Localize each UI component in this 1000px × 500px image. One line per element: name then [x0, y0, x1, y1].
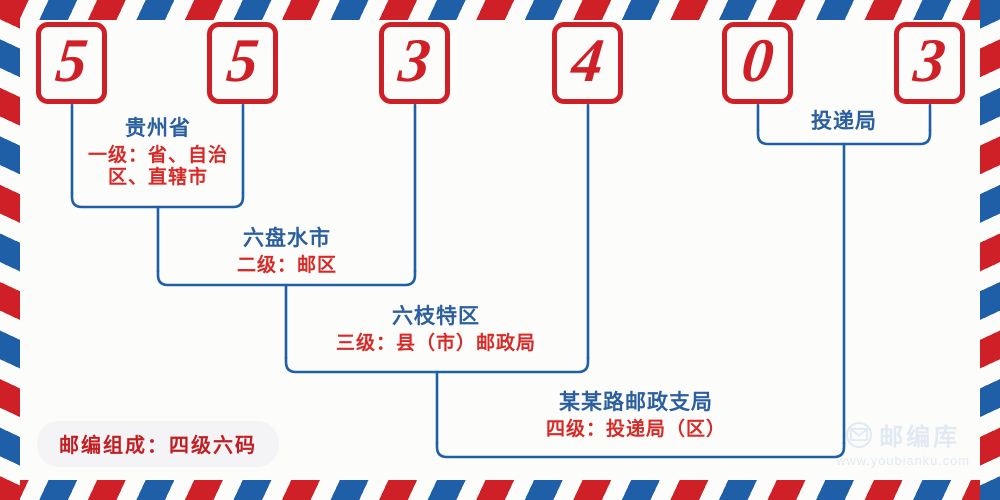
- level-2-title: 六盘水市: [176, 222, 398, 252]
- watermark-brand: 邮编库: [879, 417, 960, 452]
- level-3-subtitle: 三级：县（市）邮政局: [300, 333, 572, 355]
- digit-2-glyph: 5: [224, 30, 262, 92]
- airmail-border-top: [0, 0, 1000, 20]
- level-4-label: 某某路邮政支局 四级：投递局（区）: [500, 386, 772, 441]
- digit-box-5[interactable]: 0: [722, 22, 793, 104]
- bracket-level-3: [286, 358, 588, 372]
- digit-6-glyph: 3: [911, 30, 949, 92]
- watermark: 邮编库 www.youbianku.com: [836, 417, 970, 468]
- level-1-title: 贵州省: [78, 112, 238, 142]
- level-2-subtitle: 二级：邮区: [176, 255, 398, 277]
- delivery-group-title: 投递局: [758, 105, 930, 135]
- digit-box-2[interactable]: 5: [207, 22, 278, 104]
- digit-4-glyph: 4: [569, 30, 607, 92]
- bracket-level-1: [72, 193, 243, 207]
- postcode-composition-text: 邮编组成：四级六码: [59, 435, 257, 457]
- digit-box-3[interactable]: 3: [379, 22, 450, 104]
- delivery-group-label: 投递局: [758, 105, 930, 135]
- watermark-url: www.youbianku.com: [836, 453, 970, 468]
- airmail-border-right: [980, 0, 1000, 500]
- airmail-border-bottom: [0, 480, 1000, 500]
- level-2-label: 六盘水市 二级：邮区: [176, 222, 398, 277]
- digit-5-glyph: 0: [739, 30, 777, 92]
- postcode-composition-chip: 邮编组成：四级六码: [37, 421, 279, 467]
- diagram-canvas: 5 5 3 4 0 3 投递局 贵州省 一级：省、自治区、直辖市 六盘水市 二级…: [0, 0, 1000, 500]
- digit-box-1[interactable]: 5: [36, 22, 107, 104]
- level-4-title: 某某路邮政支局: [500, 386, 772, 416]
- level-3-title: 六枝特区: [300, 300, 572, 330]
- digit-box-4[interactable]: 4: [552, 22, 623, 104]
- level-1-subtitle: 一级：省、自治区、直辖市: [78, 145, 238, 190]
- digit-3-glyph: 3: [396, 30, 434, 92]
- level-1-label: 贵州省 一级：省、自治区、直辖市: [78, 112, 238, 190]
- digit-1-glyph: 5: [53, 30, 91, 92]
- airmail-border-left: [0, 0, 20, 500]
- level-4-subtitle: 四级：投递局（区）: [500, 419, 772, 441]
- bracket-level-4: [437, 443, 844, 457]
- level-3-label: 六枝特区 三级：县（市）邮政局: [300, 300, 572, 355]
- envelope-in-circle-icon: [846, 422, 872, 448]
- digit-box-6[interactable]: 3: [894, 22, 965, 104]
